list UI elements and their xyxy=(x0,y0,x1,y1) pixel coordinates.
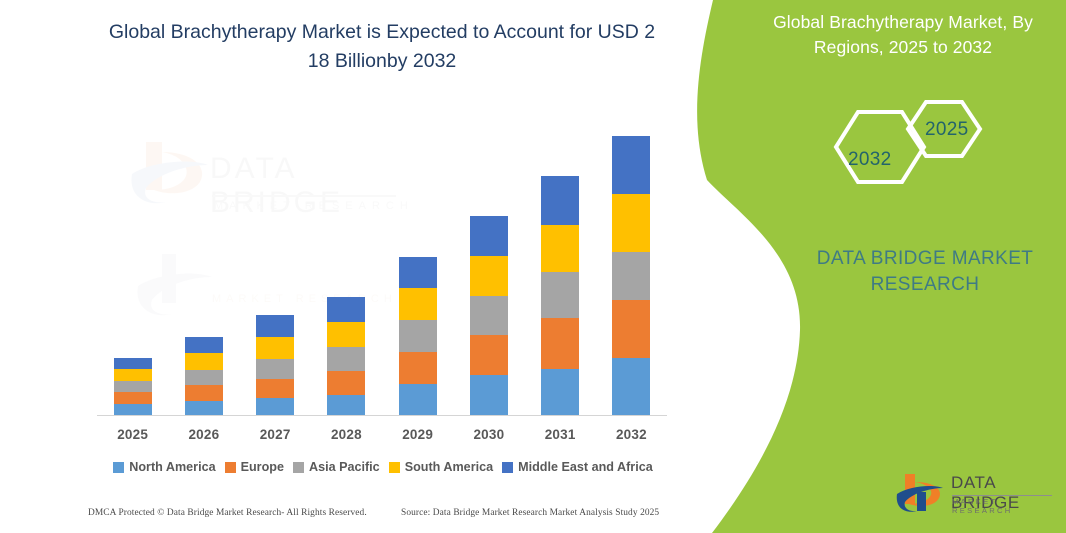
bar-segment[interactable] xyxy=(399,320,437,352)
bar-segment[interactable] xyxy=(470,216,508,256)
data-bridge-logo: DATA BRIDGE MARKET RESEARCH xyxy=(893,470,1058,518)
bar-segment[interactable] xyxy=(541,176,579,225)
bar-segment[interactable] xyxy=(470,375,508,415)
bar-group[interactable] xyxy=(256,315,294,415)
legend-item[interactable]: Asia Pacific xyxy=(293,460,380,474)
x-axis-tick-2029: 2029 xyxy=(382,427,454,442)
bar-segment[interactable] xyxy=(185,370,223,385)
hexagon-2025-label: 2025 xyxy=(925,119,968,141)
x-axis-tick-2026: 2026 xyxy=(168,427,240,442)
hexagon-2032-label: 2032 xyxy=(848,149,891,171)
bar-segment[interactable] xyxy=(114,358,152,369)
x-axis-tick-2028: 2028 xyxy=(310,427,382,442)
logo-name-bottom: MARKET RESEARCH xyxy=(952,497,1058,515)
bar-segment[interactable] xyxy=(399,384,437,415)
x-axis-tick-2030: 2030 xyxy=(453,427,525,442)
stacked-bar-chart: 20252026202720282029203020312032 North A… xyxy=(0,0,700,533)
hexagon-group: 2025 2032 xyxy=(820,92,1020,202)
bar-segment[interactable] xyxy=(185,385,223,401)
bar-segment[interactable] xyxy=(185,353,223,370)
bar-group[interactable] xyxy=(327,297,365,415)
bar-segment[interactable] xyxy=(114,369,152,381)
bar-segment[interactable] xyxy=(612,136,650,194)
bar-segment[interactable] xyxy=(114,404,152,415)
bar-segment[interactable] xyxy=(327,322,365,347)
x-axis-tick-2032: 2032 xyxy=(595,427,667,442)
chart-legend: North AmericaEuropeAsia PacificSouth Ame… xyxy=(97,457,669,477)
bar-group[interactable] xyxy=(185,337,223,415)
bar-segment[interactable] xyxy=(327,347,365,371)
legend-swatch xyxy=(225,462,236,473)
bar-segment[interactable] xyxy=(541,272,579,318)
legend-swatch xyxy=(293,462,304,473)
bar-segment[interactable] xyxy=(185,401,223,415)
bar-segment[interactable] xyxy=(470,335,508,375)
bar-group[interactable] xyxy=(114,358,152,415)
bar-segment[interactable] xyxy=(327,395,365,415)
bar-group[interactable] xyxy=(541,176,579,415)
bar-segment[interactable] xyxy=(185,337,223,353)
bar-segment[interactable] xyxy=(612,194,650,252)
bar-segment[interactable] xyxy=(327,297,365,322)
footer-copyright: DMCA Protected © Data Bridge Market Rese… xyxy=(88,508,367,518)
legend-label: Asia Pacific xyxy=(309,460,380,474)
bar-segment[interactable] xyxy=(114,392,152,404)
panel-brand-text: DATA BRIDGE MARKET RESEARCH xyxy=(790,246,1060,298)
legend-item[interactable]: Europe xyxy=(225,460,284,474)
bar-segment[interactable] xyxy=(399,288,437,320)
legend-label: South America xyxy=(405,460,493,474)
logo-divider xyxy=(952,495,1052,496)
chart-x-axis xyxy=(97,415,667,416)
bar-segment[interactable] xyxy=(612,252,650,300)
x-axis-tick-2025: 2025 xyxy=(97,427,169,442)
bar-segment[interactable] xyxy=(470,256,508,296)
x-axis-tick-2031: 2031 xyxy=(524,427,596,442)
bar-segment[interactable] xyxy=(256,315,294,337)
legend-item[interactable]: South America xyxy=(389,460,493,474)
bar-segment[interactable] xyxy=(256,379,294,398)
bar-segment[interactable] xyxy=(256,337,294,359)
legend-label: Middle East and Africa xyxy=(518,460,653,474)
bar-segment[interactable] xyxy=(399,352,437,384)
legend-label: North America xyxy=(129,460,215,474)
panel-title: Global Brachytherapy Market, By Regions,… xyxy=(748,10,1058,60)
legend-swatch xyxy=(113,462,124,473)
bar-segment[interactable] xyxy=(399,257,437,288)
bar-segment[interactable] xyxy=(612,300,650,358)
bar-segment[interactable] xyxy=(470,296,508,335)
legend-label: Europe xyxy=(241,460,284,474)
bar-segment[interactable] xyxy=(256,398,294,415)
bar-segment[interactable] xyxy=(541,225,579,272)
chart-plot-area xyxy=(97,110,667,415)
legend-swatch xyxy=(502,462,513,473)
bar-segment[interactable] xyxy=(114,381,152,392)
chart-x-axis-labels: 20252026202720282029203020312032 xyxy=(97,427,667,447)
legend-swatch xyxy=(389,462,400,473)
bar-group[interactable] xyxy=(470,216,508,415)
bar-segment[interactable] xyxy=(541,369,579,415)
x-axis-tick-2027: 2027 xyxy=(239,427,311,442)
data-bridge-mark-icon xyxy=(893,470,951,516)
infographic-root: Global Brachytherapy Market, By Regions,… xyxy=(0,0,1066,533)
bar-group[interactable] xyxy=(399,257,437,415)
footer-source: Source: Data Bridge Market Research Mark… xyxy=(401,508,659,518)
bar-segment[interactable] xyxy=(256,359,294,379)
legend-item[interactable]: North America xyxy=(113,460,215,474)
legend-item[interactable]: Middle East and Africa xyxy=(502,460,653,474)
bar-group[interactable] xyxy=(612,136,650,415)
bar-segment[interactable] xyxy=(327,371,365,395)
bar-segment[interactable] xyxy=(612,358,650,415)
bar-segment[interactable] xyxy=(541,318,579,369)
